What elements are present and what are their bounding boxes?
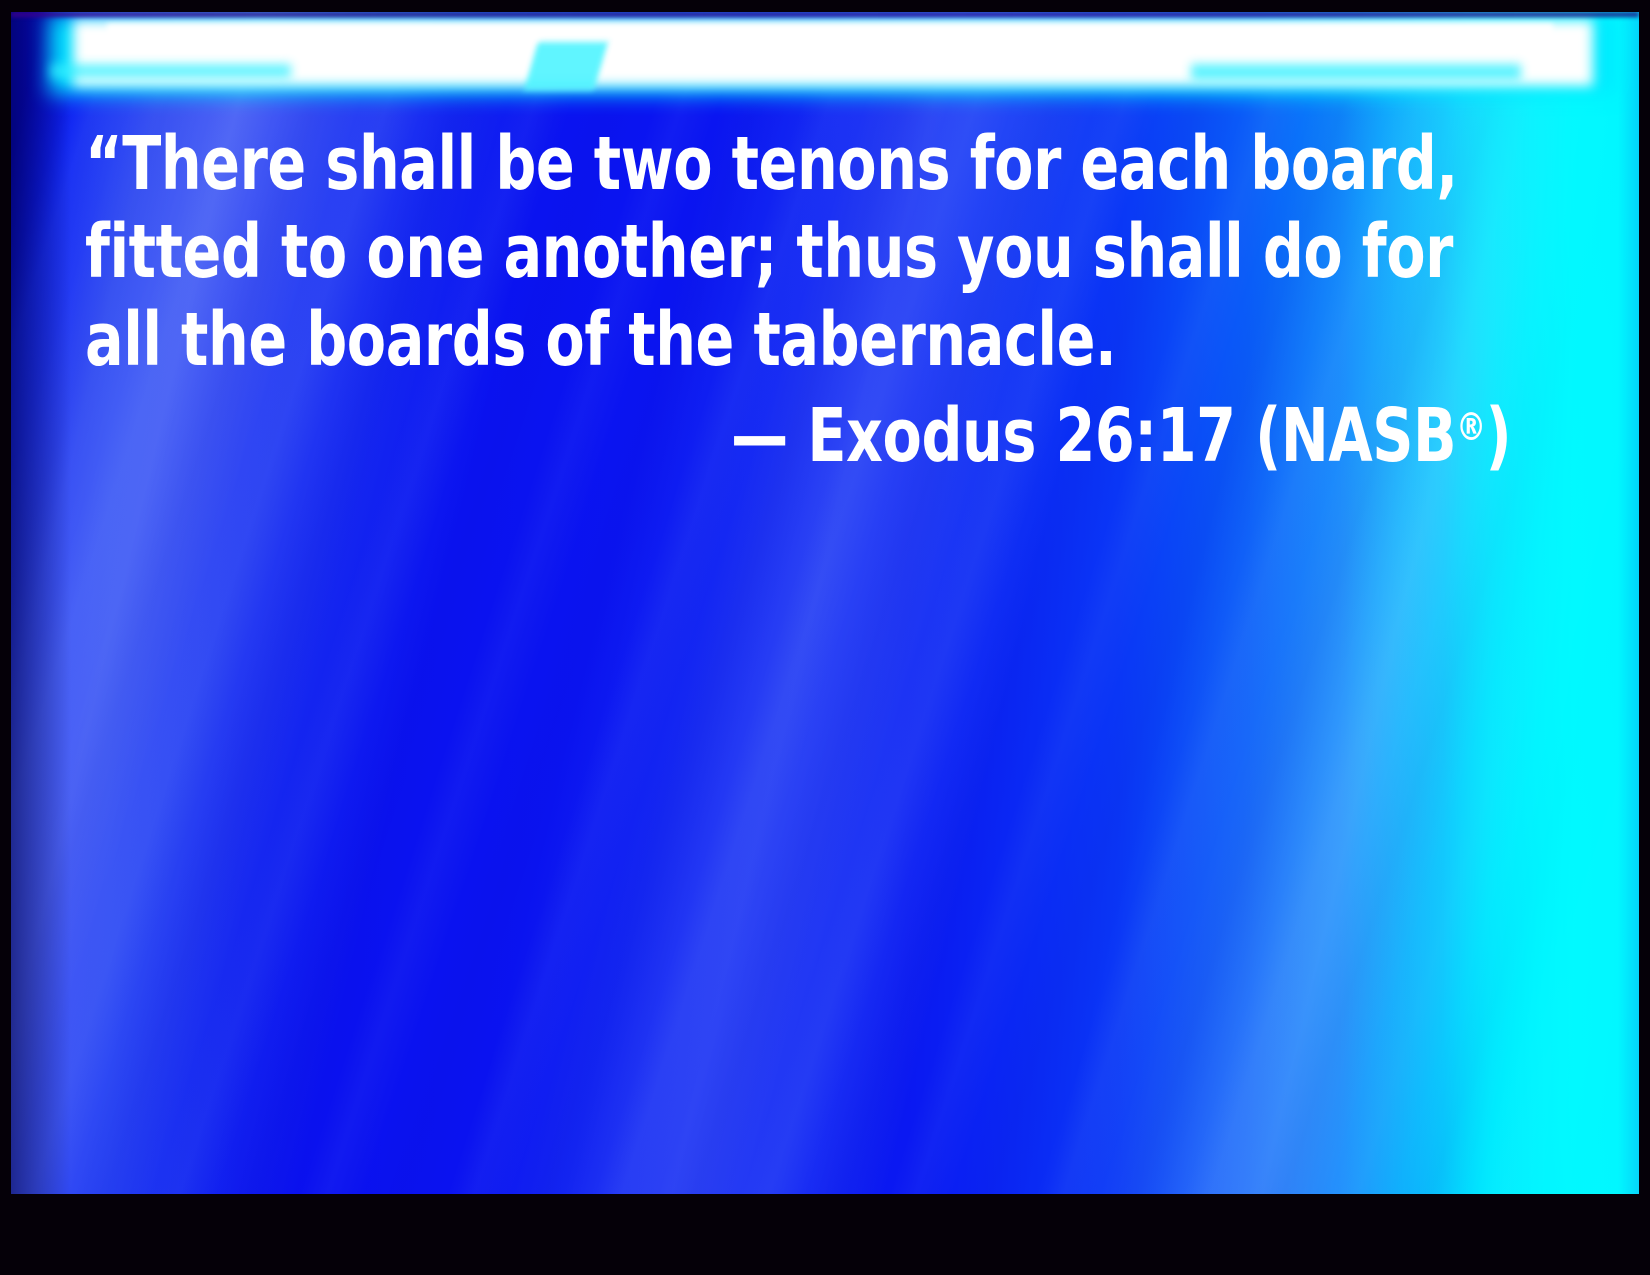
verse-line-1: “There shall be two tenons for each boar… (85, 120, 1427, 208)
background-left-shadow (11, 12, 71, 1194)
verse-line-3: all the boards of the tabernacle. (85, 296, 1427, 384)
verse-slide: “There shall be two tenons for each boar… (0, 0, 1650, 1275)
verse-reference: — Exodus 26:17 (NASB®) (731, 384, 1511, 480)
verse-reference-row: — Exodus 26:17 (NASB®) (11, 384, 1511, 480)
registered-trademark-icon: ® (1456, 405, 1485, 450)
slide-canvas: “There shall be two tenons for each boar… (11, 12, 1639, 1194)
reference-em-dash: — (731, 393, 807, 479)
verse-body: “There shall be two tenons for each boar… (85, 120, 1639, 384)
verse-line-2: fitted to one another; thus you shall do… (85, 208, 1427, 296)
reference-close-paren: ) (1485, 393, 1511, 479)
reference-citation: Exodus 26:17 (807, 393, 1235, 479)
reference-translation: NASB (1281, 393, 1456, 479)
reference-open-paren: ( (1235, 393, 1280, 479)
